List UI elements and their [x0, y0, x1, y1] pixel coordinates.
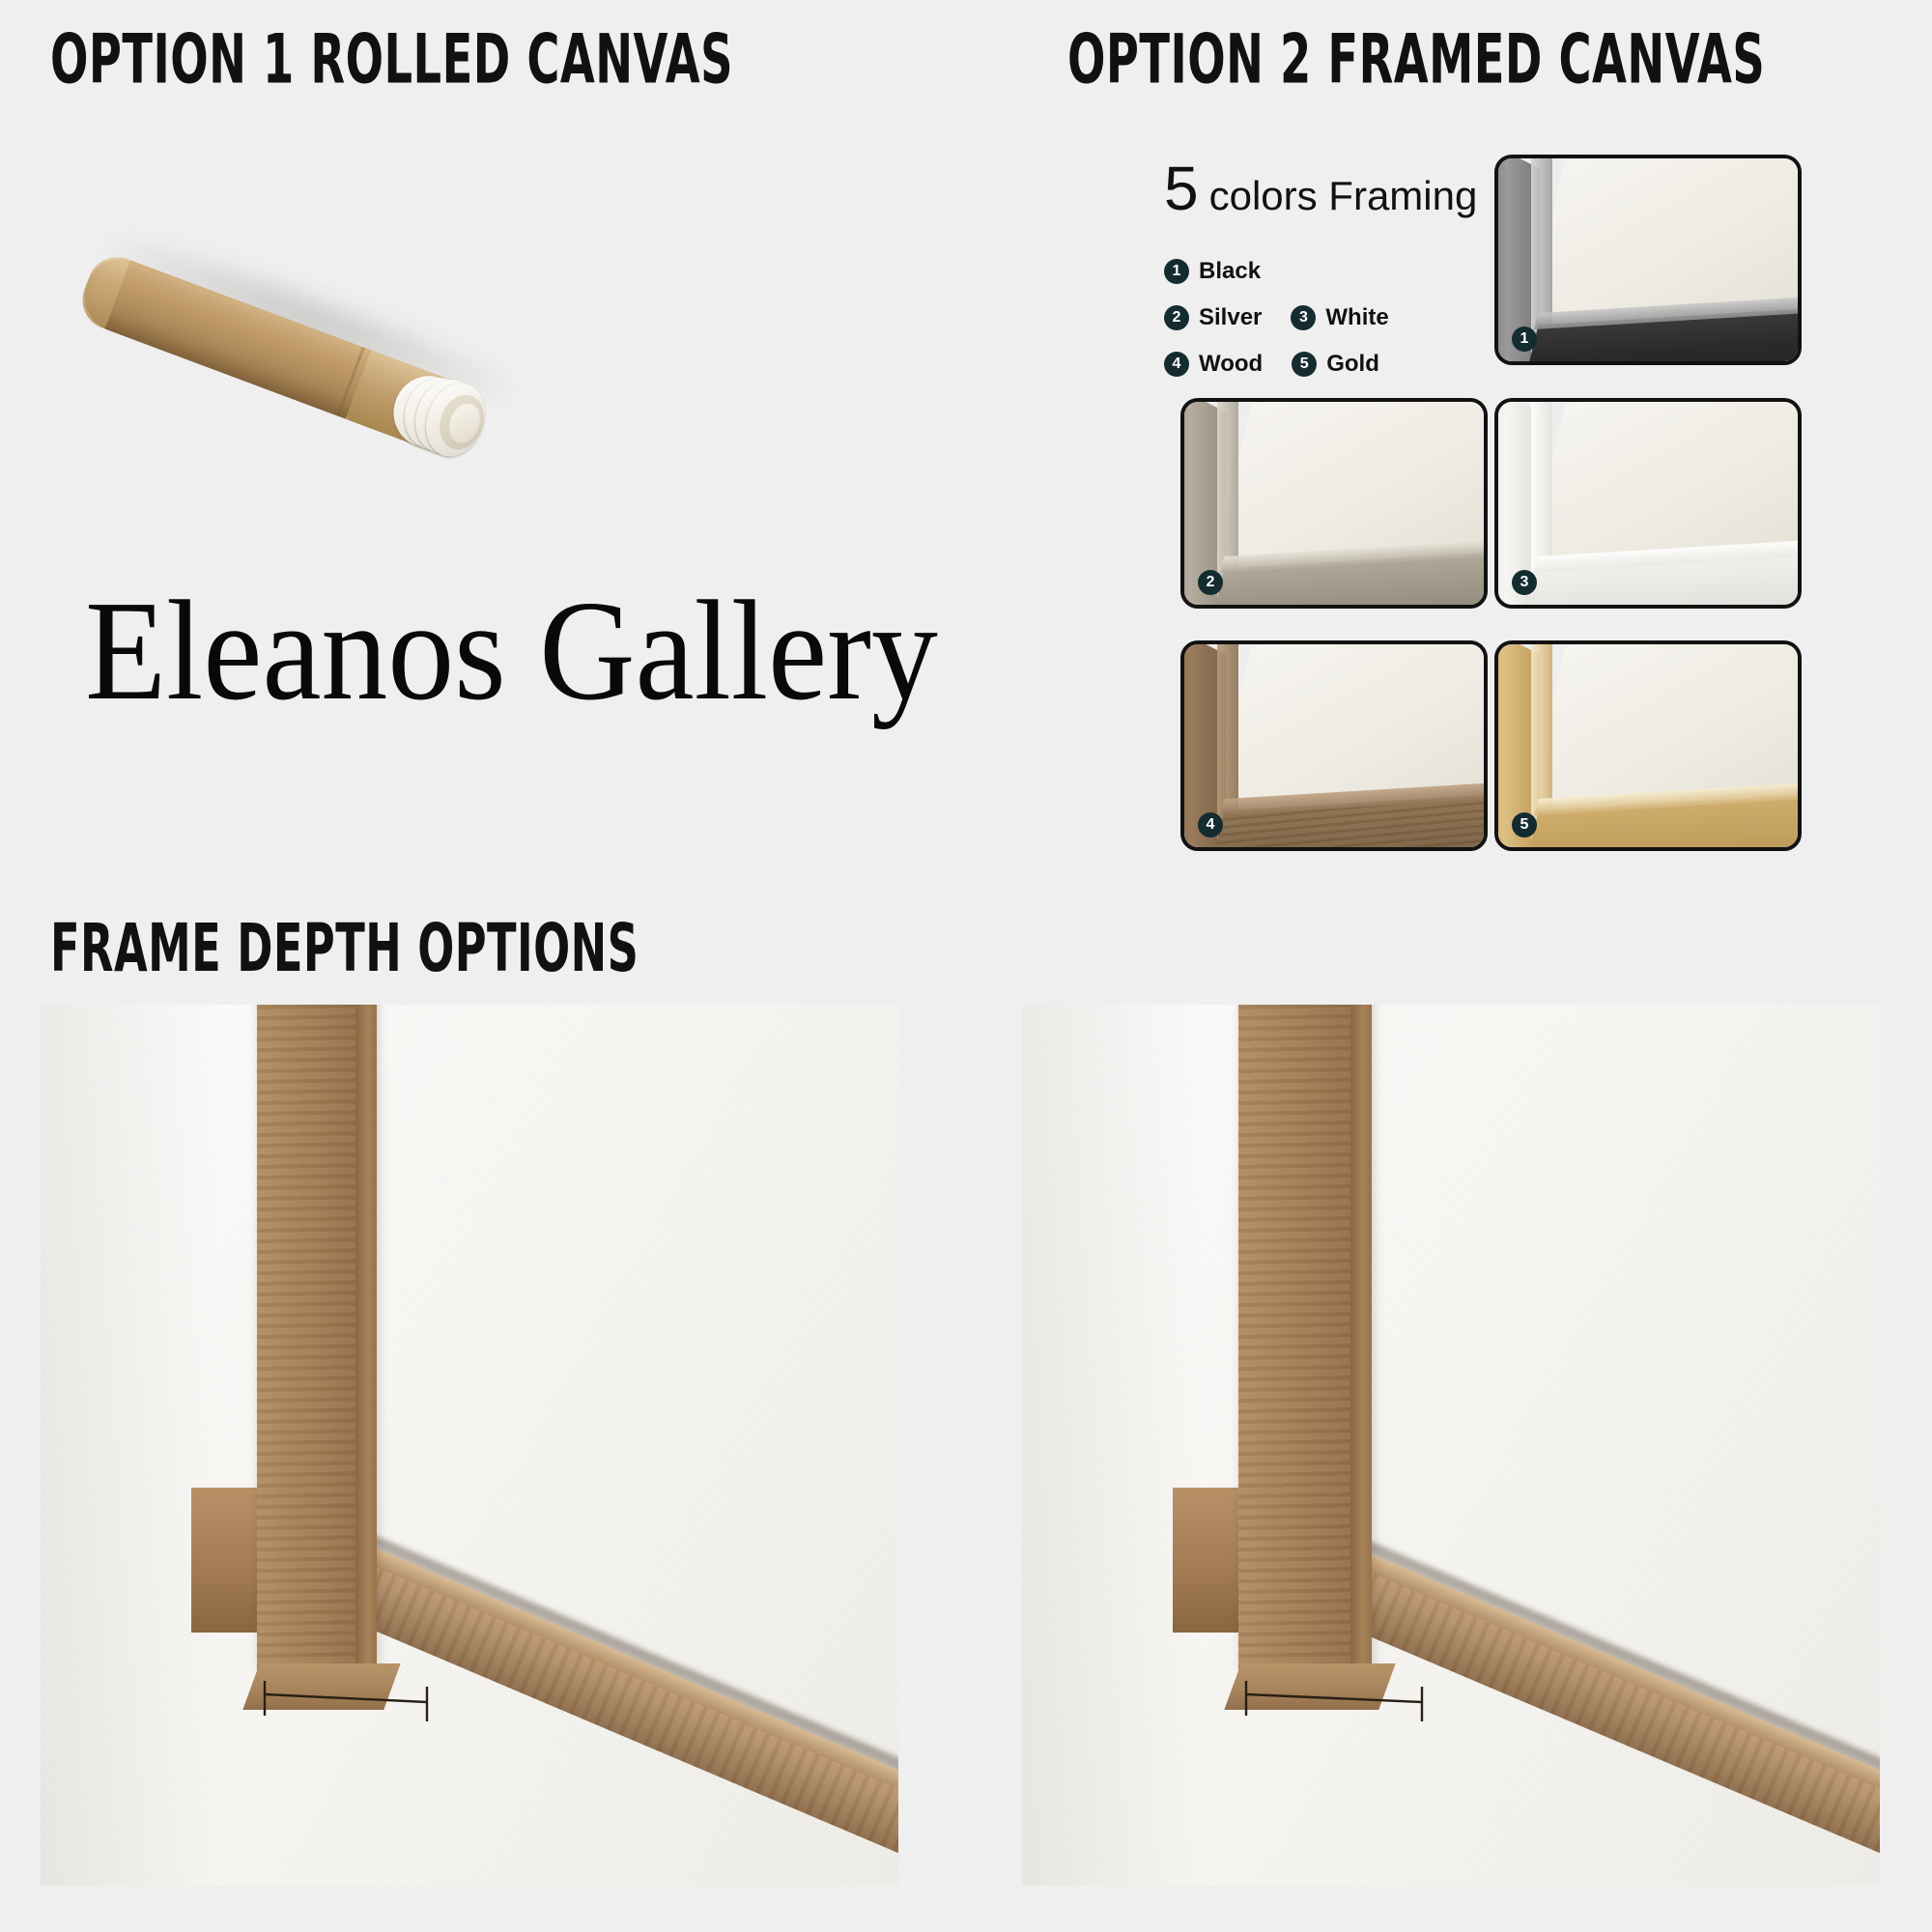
framing-colors-legend: 5 colors Framing 1 Black 2 Silver 3 Whit…: [1164, 159, 1454, 397]
option1-heading: OPTION 1 ROLLED CANVAS: [50, 25, 733, 94]
depth-dimension-line: [261, 1677, 454, 1721]
tile-number-badge-2: 2: [1198, 570, 1223, 595]
tile-number-badge-3: 3: [1512, 570, 1537, 595]
frame-corner-render: [1498, 158, 1798, 361]
frame-bar-vertical-edge: [355, 1005, 377, 1671]
number-badge-2: 2: [1164, 305, 1189, 330]
depth-photo-deep: 1.6 Inch (4.0 CM) 0.2 Inch (0.6 CM): [1022, 1005, 1880, 1886]
legend-item-white[interactable]: 3 White: [1291, 304, 1388, 331]
depth-dimension-line: [1242, 1677, 1450, 1721]
legend-row: 1 Black: [1164, 258, 1454, 285]
infographic-page: OPTION 1 ROLLED CANVAS Eleanos Gallery O…: [0, 0, 1932, 1932]
frame-sample-white[interactable]: 3: [1494, 398, 1802, 609]
legend-words: colors Framing: [1209, 173, 1478, 219]
frame-corner-render: [1498, 644, 1798, 847]
legend-item-wood[interactable]: 4 Wood: [1164, 351, 1263, 378]
frame-sample-black[interactable]: 1: [1494, 155, 1802, 365]
tile-number-badge-5: 5: [1512, 812, 1537, 838]
legend-item-silver[interactable]: 2 Silver: [1164, 304, 1262, 331]
number-badge-5: 5: [1292, 352, 1317, 377]
tube-end-cap: [74, 248, 130, 328]
legend-item-black[interactable]: 1 Black: [1164, 258, 1261, 285]
number-badge-3: 3: [1291, 305, 1316, 330]
tile-number-badge-4: 4: [1198, 812, 1223, 838]
legend-count: 5: [1164, 159, 1198, 218]
number-badge-4: 4: [1164, 352, 1189, 377]
frame-corner-render: [1498, 402, 1798, 605]
frame-sample-gold[interactable]: 5: [1494, 640, 1802, 851]
number-badge-1: 1: [1164, 259, 1189, 284]
option2-heading: OPTION 2 FRAMED CANVAS: [1067, 25, 1765, 94]
legend-row: 4 Wood 5 Gold: [1164, 351, 1454, 378]
frame-depth-heading: FRAME DEPTH OPTIONS: [50, 917, 639, 982]
brand-logotype: Eleanos Gallery: [85, 580, 938, 723]
rolled-canvas-illustration: [68, 145, 570, 435]
legend-item-gold[interactable]: 5 Gold: [1292, 351, 1379, 378]
frame-corner-render: [1184, 402, 1484, 605]
frame-sample-wood[interactable]: 4: [1180, 640, 1488, 851]
legend-label: Wood: [1199, 351, 1263, 378]
legend-label: Silver: [1199, 304, 1262, 331]
depth-photo-shallow: 1.4 Inch (3.5 CM) 0.2 Inch (0.6 CM): [41, 1005, 898, 1886]
frame-bar-vertical-edge: [1350, 1005, 1372, 1671]
legend-title: 5 colors Framing: [1164, 159, 1454, 219]
tile-number-badge-1: 1: [1512, 327, 1537, 352]
legend-label: White: [1325, 304, 1388, 331]
frame-corner-render: [1184, 644, 1484, 847]
legend-label: Black: [1199, 258, 1261, 285]
frame-sample-silver[interactable]: 2: [1180, 398, 1488, 609]
legend-label: Gold: [1326, 351, 1379, 378]
legend-row: 2 Silver 3 White: [1164, 304, 1454, 331]
